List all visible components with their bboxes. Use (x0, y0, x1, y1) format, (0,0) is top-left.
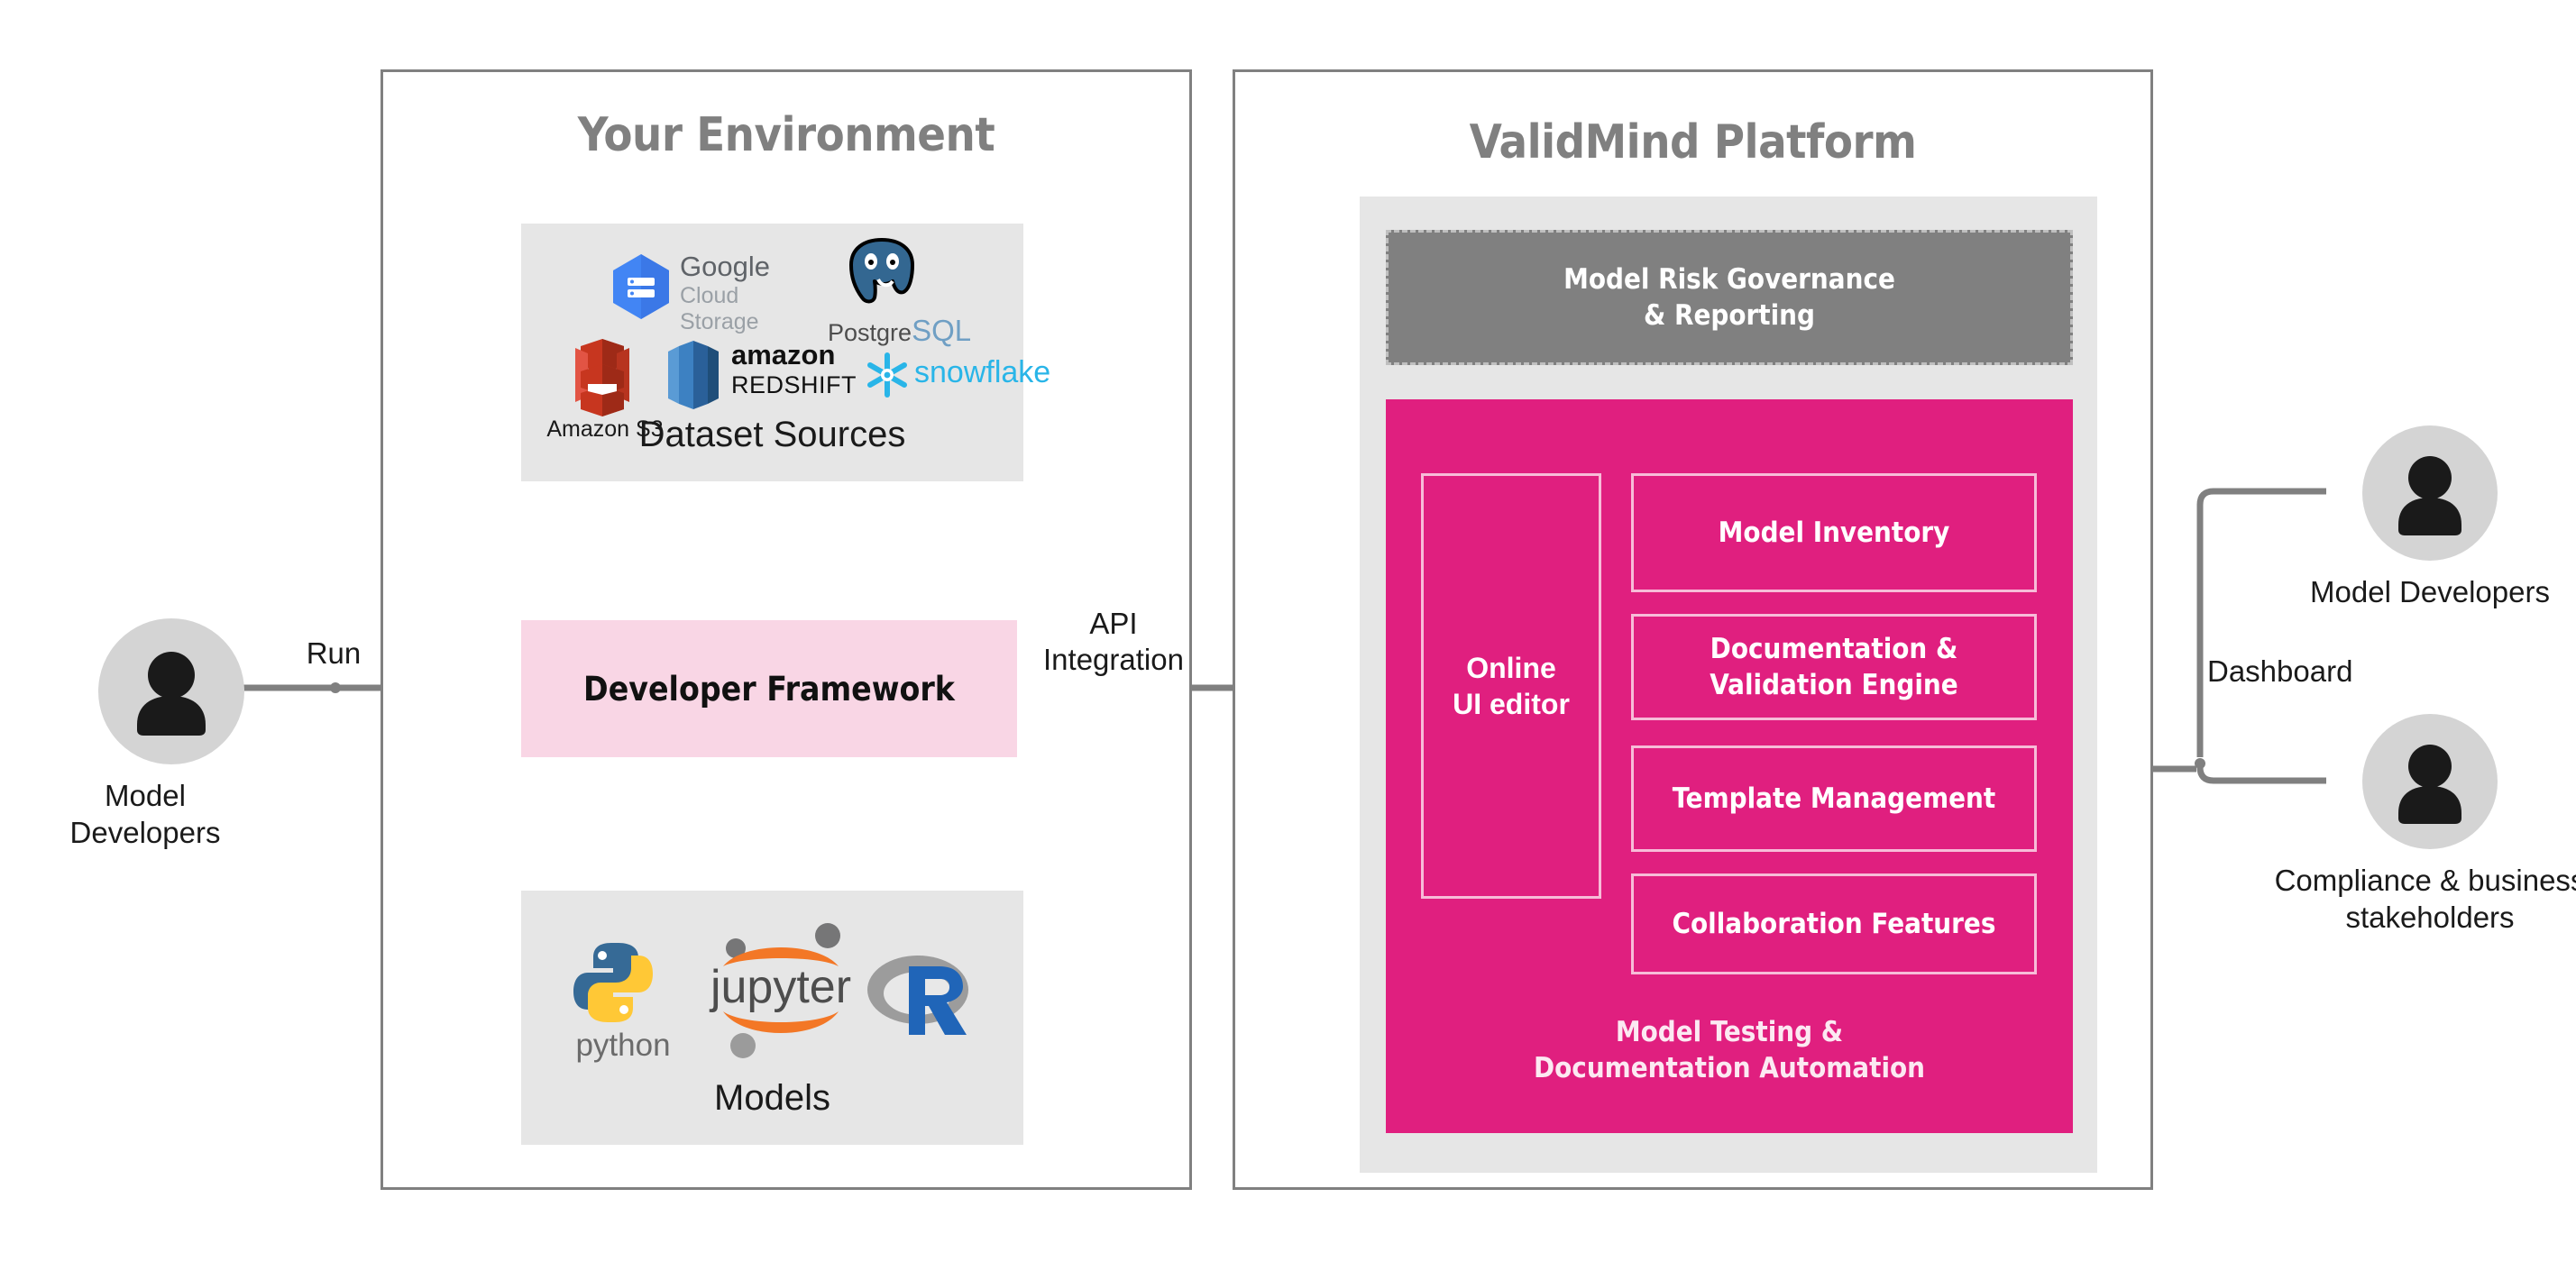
dataset-sources-card: Google Cloud Storage PostgreSQL (521, 224, 1023, 481)
edge-junction-dot (2195, 758, 2205, 769)
python-logo: python (550, 937, 685, 1082)
model-testing-automation-panel: Online UI editor Model Inventory Documen… (1386, 399, 2073, 1133)
model-risk-governance-box[interactable]: Model Risk Governance & Reporting (1386, 230, 2073, 365)
avatar-left (98, 618, 244, 764)
amazon-redshift-line2: REDSHIFT (731, 371, 857, 399)
svg-text:jupyter: jupyter (709, 961, 851, 1013)
your-environment-title: Your Environment (380, 108, 1192, 162)
user-icon (98, 618, 244, 764)
user-icon (2362, 714, 2498, 849)
jupyter-logo: jupyter (700, 910, 862, 1082)
postgresql-logo: PostgreSQL (824, 234, 941, 343)
google-cloud-storage-line1: Google (680, 251, 770, 283)
validmind-platform-title: ValidMind Platform (1233, 115, 2153, 169)
google-cloud-storage-line2: Cloud Storage (680, 283, 808, 335)
persona-left-label: Model Developers (46, 777, 244, 852)
amazon-redshift-line1: amazon (731, 339, 835, 371)
persona-right-top-label: Model Developers (2281, 573, 2576, 610)
snowflake-logo: snowflake (862, 350, 1024, 404)
developer-framework-box[interactable]: Developer Framework (521, 620, 1017, 757)
persona-compliance-stakeholders: Compliance & business stakeholders (2317, 714, 2543, 948)
feature-box-template-management[interactable]: Template Management (1631, 745, 2037, 852)
models-card: python jupyter Models (521, 891, 1023, 1145)
persona-right-bottom-label: Compliance & business stakeholders (2250, 862, 2576, 937)
feature-box-model-inventory[interactable]: Model Inventory (1631, 473, 2037, 592)
avatar-right-top (2362, 425, 2498, 561)
dataset-sources-caption: Dataset Sources (521, 415, 1023, 455)
edge-label-api-integration: API Integration (1023, 606, 1204, 677)
snowflake-label: snowflake (914, 355, 1050, 390)
persona-right-model-developers: Model Developers (2317, 425, 2543, 633)
feature-box-documentation-validation-engine[interactable]: Documentation & Validation Engine (1631, 614, 2037, 720)
online-ui-editor-box[interactable]: Online UI editor (1421, 473, 1601, 899)
google-cloud-storage-logo: Google Cloud Storage (610, 251, 808, 323)
persona-left-model-developers: Model Developers (72, 618, 270, 826)
edge-label-dashboard: Dashboard (2207, 654, 2406, 690)
python-label: python (555, 1028, 691, 1064)
model-testing-automation-caption: Model Testing & Documentation Automation (1386, 1014, 2073, 1087)
models-caption: Models (521, 1078, 1023, 1119)
r-logo (862, 946, 988, 1055)
user-icon (2362, 425, 2498, 561)
amazon-redshift-logo: amazon REDSHIFT (661, 337, 859, 418)
postgresql-text-right: SQL (912, 314, 971, 347)
feature-box-collaboration-features[interactable]: Collaboration Features (1631, 873, 2037, 974)
edge-label-run: Run (261, 636, 406, 672)
avatar-right-bottom (2362, 714, 2498, 849)
